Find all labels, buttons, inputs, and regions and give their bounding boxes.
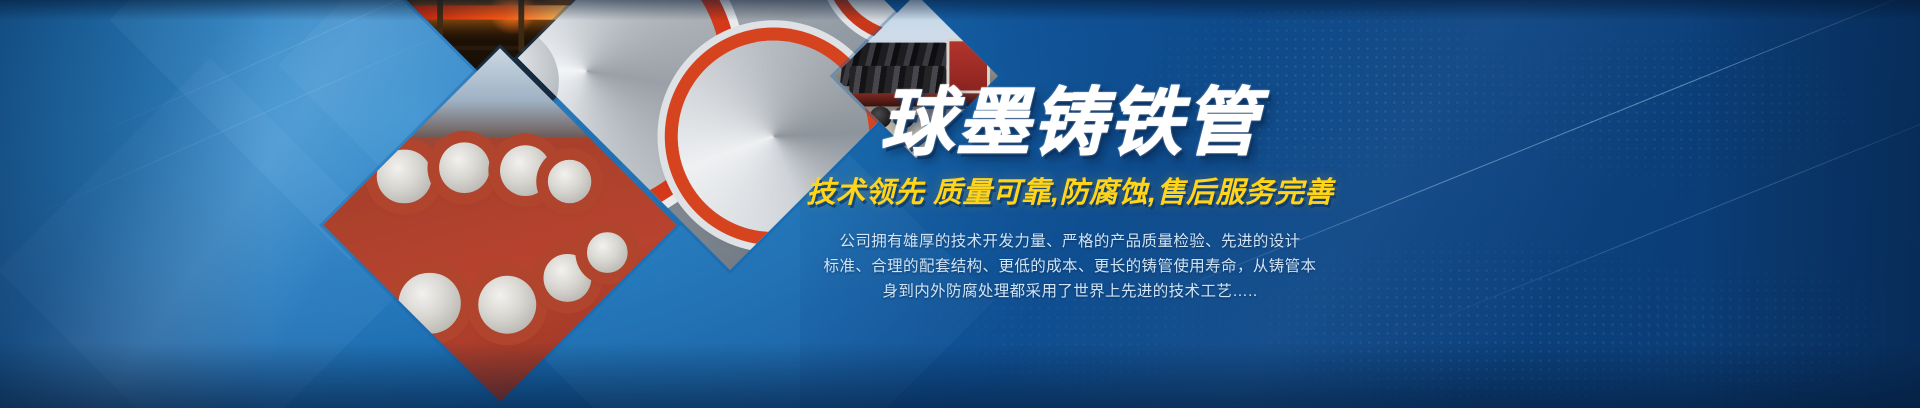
banner-top-edge: [0, 0, 1920, 3]
description-line-1: 公司拥有雄厚的技术开发力量、严格的产品质量检验、先进的设计: [750, 229, 1390, 254]
description-line-3: 身到内外防腐处理都采用了世界上先进的技术工艺…..: [750, 279, 1390, 304]
banner-subtitle: 技术领先 质量可靠,防腐蚀,售后服务完善: [680, 178, 1460, 210]
banner-title: 球墨铸铁管: [680, 86, 1460, 160]
banner-copy: 球墨铸铁管 技术领先 质量可靠,防腐蚀,售后服务完善 公司拥有雄厚的技术开发力量…: [680, 86, 1460, 304]
description-line-2: 标准、合理的配套结构、更低的成本、更长的铸管使用寿命，从铸管本: [750, 254, 1390, 279]
product-banner: 球墨铸铁管 技术领先 质量可靠,防腐蚀,售后服务完善 公司拥有雄厚的技术开发力量…: [0, 0, 1920, 408]
banner-description: 公司拥有雄厚的技术开发力量、严格的产品质量检验、先进的设计 标准、合理的配套结构…: [750, 229, 1390, 304]
